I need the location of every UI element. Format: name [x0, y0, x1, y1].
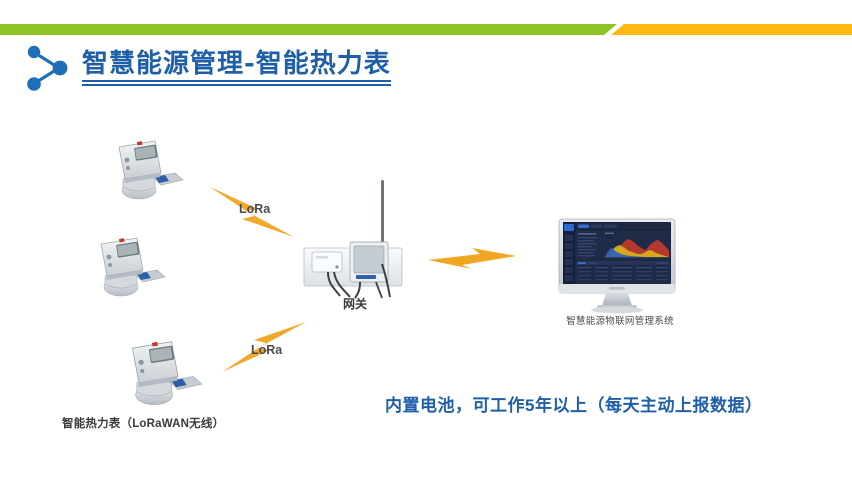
lora-link-top: LoRa — [206, 181, 298, 243]
management-system-monitor — [553, 218, 681, 321]
slide-root: 智慧能源管理-智能热力表 — [0, 0, 852, 480]
title-underline-inner — [82, 84, 391, 86]
gateway-label: 网关 — [300, 295, 410, 312]
page-title: 智慧能源管理-智能热力表 — [82, 49, 391, 79]
header-bar-green — [0, 24, 618, 35]
heat-meter-device-3 — [115, 333, 215, 409]
heat-meter-device-1 — [103, 133, 195, 203]
gateway-to-server-link — [428, 245, 516, 275]
gateway-device — [300, 176, 410, 306]
network-share-icon — [22, 44, 74, 92]
lora-link-top-label: LoRa — [239, 202, 270, 216]
battery-note: 内置电池，可工作5年以上（每天主动上报数据） — [385, 391, 762, 416]
page-title-wrap: 智慧能源管理-智能热力表 — [82, 50, 391, 87]
heat-meter-device-2 — [85, 230, 177, 300]
meters-caption: 智能热力表（LoRaWAN无线） — [62, 415, 224, 431]
page-title-row: 智慧能源管理-智能热力表 — [22, 44, 391, 92]
lora-link-bottom-label: LoRa — [251, 343, 282, 357]
management-system-label: 智慧能源物联网管理系统 — [540, 313, 700, 327]
title-underline-outer — [82, 80, 391, 82]
lora-link-bottom: LoRa — [218, 316, 310, 378]
